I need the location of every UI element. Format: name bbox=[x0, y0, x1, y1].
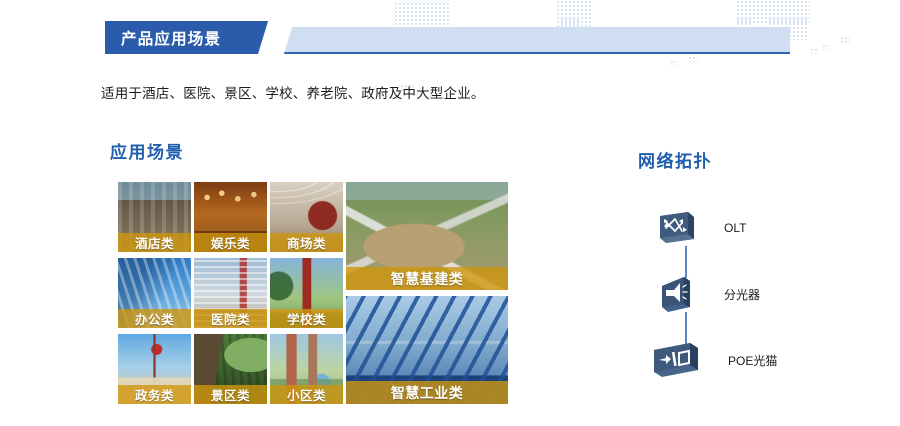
scene-column-b: 娱乐类 医院类 景区类 bbox=[194, 182, 267, 404]
scene-tile[interactable]: 小区类 bbox=[270, 334, 343, 404]
header-tab-label: 产品应用场景 bbox=[105, 27, 221, 49]
scene-caption: 酒店类 bbox=[118, 233, 191, 252]
scene-caption: 景区类 bbox=[194, 385, 267, 404]
scene-caption: 学校类 bbox=[270, 309, 343, 328]
scene-caption: 娱乐类 bbox=[194, 233, 267, 252]
scene-column-c: 商场类 学校类 小区类 bbox=[270, 182, 343, 404]
dot-cluster bbox=[822, 44, 828, 50]
scene-caption: 智慧基建类 bbox=[346, 267, 508, 290]
scene-column-a: 酒店类 办公类 政务类 bbox=[118, 182, 191, 404]
scenes-section-title: 应用场景 bbox=[110, 138, 184, 163]
topology-node-label: OLT bbox=[724, 221, 746, 235]
scene-tile[interactable]: 办公类 bbox=[118, 258, 191, 328]
scene-tile[interactable]: 酒店类 bbox=[118, 182, 191, 252]
topology-node-olt[interactable]: OLT bbox=[654, 208, 746, 248]
topology-node-label: POE光猫 bbox=[728, 352, 777, 369]
scene-tile[interactable]: 智慧工业类 bbox=[346, 296, 508, 404]
scene-tile[interactable]: 医院类 bbox=[194, 258, 267, 328]
scene-tile[interactable]: 政务类 bbox=[118, 334, 191, 404]
topology-node-label: 分光器 bbox=[724, 286, 760, 303]
dot-cluster bbox=[556, 0, 592, 30]
intro-text: 适用于酒店、医院、景区、学校、养老院、政府及中大型企业。 bbox=[101, 82, 485, 102]
scene-column-large: 智慧基建类 智慧工业类 bbox=[346, 182, 508, 404]
dot-cluster bbox=[810, 48, 818, 54]
topology-section-title: 网络拓扑 bbox=[638, 147, 712, 172]
poe-onu-icon bbox=[648, 340, 702, 380]
dot-cluster bbox=[670, 60, 676, 66]
scene-caption: 商场类 bbox=[270, 233, 343, 252]
topology-node-poe-onu[interactable]: POE光猫 bbox=[648, 340, 777, 380]
dot-cluster bbox=[840, 36, 850, 44]
scene-tile[interactable]: 娱乐类 bbox=[194, 182, 267, 252]
application-scenes-mosaic: 酒店类 办公类 政务类 娱乐类 医院类 景区类 商场类 bbox=[118, 182, 508, 404]
olt-switch-icon bbox=[654, 208, 698, 248]
dot-cluster bbox=[688, 56, 698, 62]
topology-node-splitter[interactable]: 分光器 bbox=[654, 274, 760, 314]
scene-tile[interactable]: 智慧基建类 bbox=[346, 182, 508, 290]
scene-caption: 智慧工业类 bbox=[346, 381, 508, 404]
optical-splitter-icon bbox=[654, 274, 698, 314]
header-tab: 产品应用场景 bbox=[105, 21, 280, 54]
scene-caption: 医院类 bbox=[194, 309, 267, 328]
scene-caption: 办公类 bbox=[118, 309, 191, 328]
scene-tile[interactable]: 商场类 bbox=[270, 182, 343, 252]
scene-tile[interactable]: 景区类 bbox=[194, 334, 267, 404]
scene-caption: 政务类 bbox=[118, 385, 191, 404]
dot-cluster bbox=[736, 18, 752, 26]
network-topology-diagram: OLT 分光器 POE光猫 bbox=[640, 200, 860, 405]
scene-tile[interactable]: 学校类 bbox=[270, 258, 343, 328]
dot-cluster bbox=[736, 0, 810, 24]
scene-caption: 小区类 bbox=[270, 385, 343, 404]
